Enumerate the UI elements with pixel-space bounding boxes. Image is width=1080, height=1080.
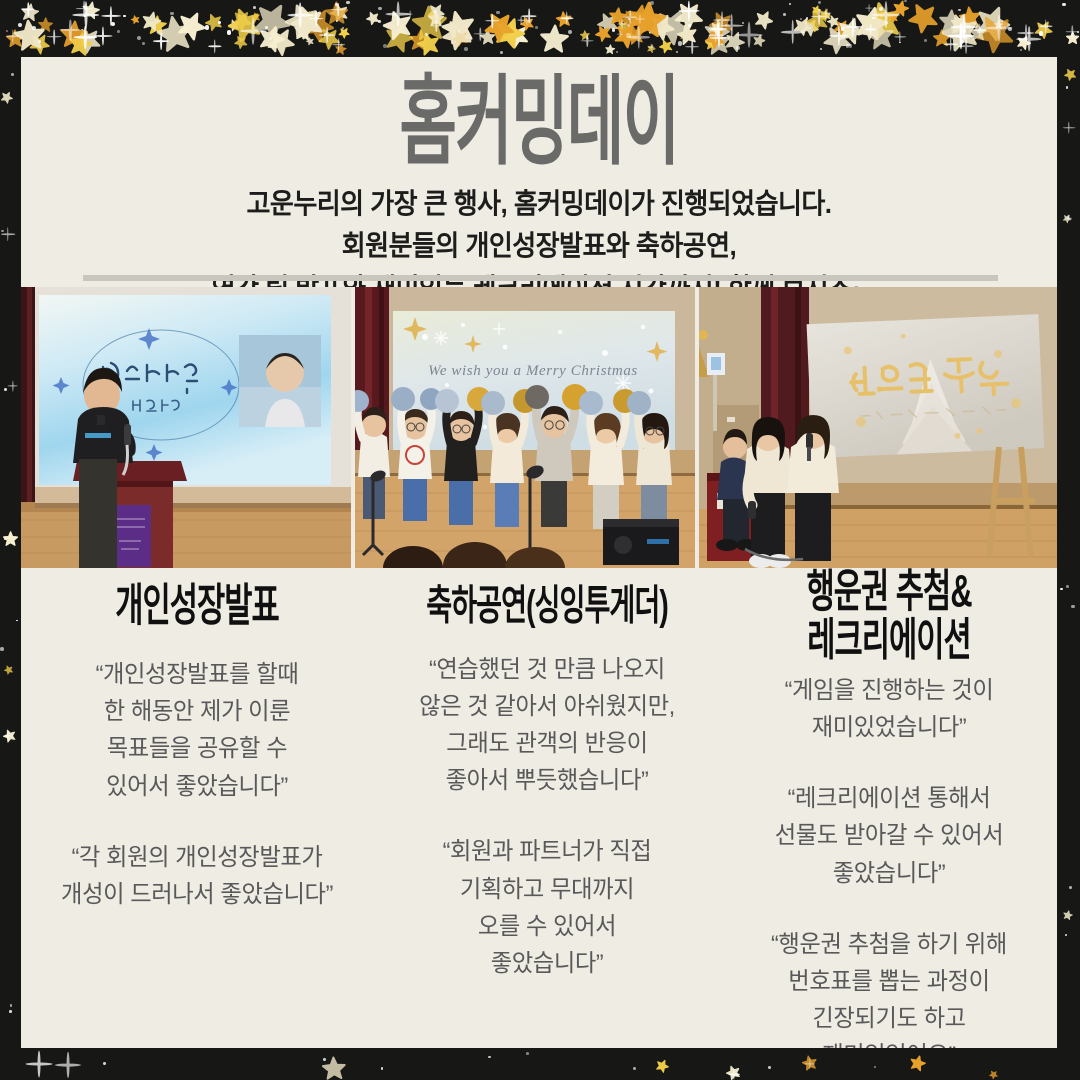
sparkle-dot-icon (458, 30, 460, 32)
star-icon (334, 42, 347, 55)
sparkle-dot-icon (1066, 86, 1068, 88)
star-icon (668, 0, 707, 34)
star-icon (3, 663, 15, 675)
sparkle-icon (618, 20, 627, 29)
sparkle-dot-icon (874, 1066, 876, 1068)
star-icon (415, 30, 443, 58)
sparkle-icon (55, 1052, 81, 1078)
star-icon (325, 1, 349, 25)
sparkle-icon (947, 22, 974, 49)
sparkle-icon (581, 34, 594, 47)
sparkle-dot-icon (1069, 886, 1072, 889)
star-icon (382, 20, 417, 55)
sparkle-dot-icon (378, 7, 381, 10)
star-icon (816, 6, 834, 24)
sparkle-dot-icon (612, 28, 616, 32)
sparkle-dot-icon (820, 48, 822, 50)
star-icon (5, 29, 24, 48)
sparkle-icon (522, 9, 537, 24)
sparkle-dot-icon (568, 30, 572, 34)
star-icon (256, 22, 289, 55)
star-icon (1066, 31, 1079, 44)
sparkle-icon (1063, 121, 1076, 134)
sparkle-dot-icon (800, 18, 802, 20)
sparkle-icon (7, 380, 18, 391)
star-icon (908, 1053, 927, 1072)
star-icon (825, 13, 840, 28)
sparkle-icon (1065, 215, 1071, 221)
sparkle-dot-icon (789, 3, 791, 5)
star-icon (891, 0, 910, 18)
quote-line: 그래도 관객의 반응이 (378, 725, 716, 762)
sparkle-dot-icon (323, 1058, 326, 1061)
sparkle-icon (522, 16, 532, 26)
star-icon (867, 6, 889, 28)
quote-line: “레크리에이션 통해서 (726, 780, 1052, 817)
sparkle-icon (93, 27, 112, 46)
star-icon (649, 2, 697, 50)
sparkle-dot-icon (742, 22, 744, 24)
homecoming-day-poster: 홈커밍데이 고운누리의 가장 큰 행사, 홈커밍데이가 진행되었습니다. 회원분… (0, 0, 1080, 1080)
star-icon (580, 29, 591, 40)
sparkle-dot-icon (4, 388, 7, 391)
star-icon (1066, 31, 1079, 44)
star-icon (425, 0, 448, 23)
star-icon (953, 17, 966, 30)
sparkle-dot-icon (545, 37, 547, 39)
sparkle-dot-icon (381, 1067, 383, 1069)
star-icon (971, 0, 1016, 44)
quote-line: 좋아서 뿌듯했습니다” (378, 762, 716, 799)
sparkle-dot-icon (818, 1, 822, 5)
star-icon (994, 20, 1003, 29)
star-icon (314, 23, 344, 53)
star-icon (439, 7, 479, 47)
star-icon (379, 6, 415, 42)
star-icon (608, 7, 627, 26)
star-icon (174, 6, 211, 43)
column-heading-3-line-1: 행운권 추첨& (750, 567, 1029, 616)
quote-line: “행운권 추첨을 하기 위해 (726, 926, 1052, 963)
star-icon (2, 727, 19, 744)
quotes-1: “개인성장발표를 할때 한 해동안 제가 이룬 목표들을 공유할 수 있어서 좋… (21, 656, 373, 913)
sparkle-icon (821, 8, 831, 18)
sparkle-icon (26, 1050, 53, 1077)
sparkle-icon (805, 1058, 816, 1069)
column-lucky-draw-recreation: 행운권 추첨& 레크리에이션 “게임을 진행하는 것이 재미있었습니다” “레크… (721, 576, 1057, 1048)
star-icon (611, 19, 643, 51)
sparkle-dot-icon (123, 15, 126, 18)
sparkle-dot-icon (962, 29, 966, 33)
quote-line: 개성이 드러나서 좋았습니다” (26, 876, 367, 913)
sparkle-dot-icon (111, 22, 115, 26)
star-icon (0, 88, 15, 104)
quote-line: 긴장되기도 하고 (726, 1000, 1052, 1037)
star-icon (625, 2, 656, 33)
sparkle-dot-icon (1066, 585, 1069, 588)
sparkle-dot-icon (1020, 49, 1022, 51)
quote-line: 선물도 받아갈 수 있어서 (726, 817, 1052, 854)
star-icon (67, 30, 94, 57)
sparkle-dot-icon (346, 1, 350, 5)
sparkle-icon (1, 227, 15, 241)
star-icon (791, 14, 815, 38)
star-icon (645, 42, 656, 53)
sparkle-icon (985, 15, 1012, 42)
star-icon (707, 18, 726, 37)
sparkle-dot-icon (904, 0, 906, 2)
star-icon (751, 33, 766, 48)
column-heading-3-line-2: 레크리에이션 (750, 616, 1029, 665)
star-icon (625, 2, 656, 33)
star-icon (556, 10, 573, 27)
star-icon (703, 27, 731, 55)
star-icon (702, 24, 729, 51)
star-icon (705, 37, 718, 50)
content-panel: 홈커밍데이 고운누리의 가장 큰 행사, 홈커밍데이가 진행되었습니다. 회원분… (21, 57, 1057, 1048)
star-icon (303, 11, 316, 24)
star-icon (938, 8, 964, 34)
sparkle-icon (22, 3, 35, 16)
quote-3-2: “레크리에이션 통해서 선물도 받아갈 수 있어서 좋았습니다” (726, 780, 1052, 892)
sparkle-icon (74, 26, 96, 48)
sparkle-dot-icon (10, 1004, 13, 1007)
sparkle-icon (332, 38, 346, 52)
star-icon (500, 19, 532, 51)
star-icon (706, 8, 737, 39)
sparkle-icon (951, 13, 978, 40)
sparkle-dot-icon (1060, 588, 1063, 591)
photo-strip: 또 하나의 빛 (21, 287, 1057, 568)
star-icon (228, 6, 256, 34)
quote-line: 좋았습니다” (378, 945, 716, 982)
sparkle-dot-icon (872, 17, 875, 20)
sparkle-dot-icon (688, 24, 691, 27)
star-icon (155, 12, 197, 54)
star-icon (539, 24, 569, 54)
star-icon (657, 37, 675, 55)
star-icon (227, 17, 242, 32)
star-icon (80, 0, 101, 20)
sparkle-dot-icon (324, 33, 327, 36)
star-icon (592, 22, 613, 43)
sparkle-dot-icon (628, 18, 630, 20)
quote-line: “각 회원의 개인성장발표가 (26, 839, 367, 876)
star-icon (865, 20, 895, 50)
sparkle-icon (153, 33, 169, 49)
sparkle-dot-icon (849, 44, 852, 47)
star-icon (479, 5, 520, 46)
star-icon (675, 22, 699, 46)
star-icon (223, 2, 266, 45)
sparkle-icon (829, 25, 849, 45)
star-icon (411, 4, 448, 41)
sparkle-dot-icon (1039, 31, 1043, 35)
star-icon (908, 1053, 927, 1072)
quote-line: 좋았습니다” (726, 855, 1052, 892)
star-icon (724, 1063, 743, 1080)
column-celebration-performance: 축하공연(싱잉투게더) “연습했던 것 만큼 나오지 않은 것 같아서 아쉬웠지… (373, 576, 721, 1016)
sparkle-icon (385, 2, 410, 27)
sparkle-icon (865, 24, 876, 35)
sparkle-dot-icon (899, 42, 901, 44)
star-icon (249, 0, 298, 44)
sparkle-dot-icon (378, 20, 381, 23)
sparkle-dot-icon (1065, 934, 1067, 936)
quote-line: “회원과 파트너가 직접 (378, 833, 716, 870)
sparkle-icon (1017, 24, 1035, 42)
star-icon (800, 1053, 818, 1071)
sparkle-icon (60, 20, 81, 41)
star-icon (803, 5, 831, 33)
sparkle-icon (47, 29, 62, 44)
star-icon (408, 28, 432, 52)
svg-text:We wish you a Merry Christmas: We wish you a Merry Christmas (428, 363, 638, 379)
star-icon (988, 1069, 1000, 1080)
photo-personal-growth-presentation: 또 하나의 빛 (21, 287, 351, 568)
star-icon (286, 0, 328, 42)
quote-line: 오를 수 있어서 (378, 908, 716, 945)
star-icon (679, 30, 689, 40)
sparkle-dot-icon (253, 6, 256, 9)
subtitle-line-2: 회원분들의 개인성장발표와 축하공연, (57, 225, 1020, 268)
star-icon (887, 10, 899, 22)
sparkle-icon (714, 12, 732, 30)
sparkle-icon (72, 2, 100, 30)
sparkle-icon (101, 6, 121, 26)
sparkle-dot-icon (32, 26, 36, 30)
sparkle-dot-icon (227, 30, 231, 34)
photo-lucky-draw (699, 287, 1057, 568)
star-icon (644, 9, 679, 44)
star-icon (811, 4, 823, 16)
star-icon (3, 531, 18, 546)
sparkle-dot-icon (0, 647, 4, 651)
star-icon (1062, 909, 1074, 921)
sparkle-dot-icon (626, 33, 630, 37)
sparkle-dot-icon (961, 40, 964, 43)
subtitle-line-1: 고운누리의 가장 큰 행사, 홈커밍데이가 진행되었습니다. (57, 183, 1020, 226)
quote-1-1: “개인성장발표를 할때 한 해동안 제가 이룬 목표들을 공유할 수 있어서 좋… (26, 656, 367, 805)
sparkle-icon (308, 11, 323, 26)
star-icon (450, 28, 471, 49)
sparkle-dot-icon (16, 620, 18, 622)
star-icon (305, 36, 315, 46)
sparkle-icon (3, 732, 13, 742)
star-icon (592, 22, 613, 43)
star-icon (297, 3, 340, 46)
testimonial-columns: 개인성장발표 “개인성장발표를 할때 한 해동안 제가 이룬 목표들을 공유할 … (21, 576, 1057, 1048)
sparkle-icon (648, 44, 655, 51)
quote-line: “개인성장발표를 할때 (26, 656, 367, 693)
sparkle-dot-icon (142, 42, 145, 45)
star-icon (479, 28, 495, 44)
star-icon (428, 10, 444, 26)
star-icon (752, 7, 777, 32)
sparkle-dot-icon (768, 1066, 772, 1070)
sparkle-dot-icon (958, 9, 961, 12)
quote-line: 기획하고 무대까지 (378, 871, 716, 908)
quotes-2: “연습했던 것 만큼 나오지 않은 것 같아서 아쉬웠지만, 그래도 관객의 반… (373, 651, 721, 983)
sparkle-icon (708, 19, 727, 38)
sparkle-icon (678, 1, 699, 22)
sparkle-icon (485, 14, 499, 28)
star-icon (958, 5, 982, 29)
sparkle-icon (844, 18, 863, 37)
sparkle-dot-icon (434, 10, 436, 12)
quote-line: 한 해동안 제가 이룬 (26, 693, 367, 730)
star-icon (450, 28, 471, 49)
sparkle-dot-icon (1001, 21, 1003, 23)
page-title: 홈커밍데이 (125, 73, 954, 172)
star-icon (629, 0, 667, 38)
star-icon (1061, 212, 1073, 224)
star-icon (722, 28, 748, 54)
sparkle-dot-icon (725, 24, 727, 26)
sparkle-icon (781, 20, 805, 44)
sparkle-dot-icon (464, 47, 468, 51)
star-icon (932, 29, 950, 47)
star-icon (539, 24, 569, 54)
star-icon (799, 15, 823, 39)
sparkle-icon (719, 14, 743, 38)
quote-line: “연습했던 것 만큼 나오지 (378, 651, 716, 688)
star-icon (970, 8, 1020, 58)
sparkle-icon (628, 26, 650, 48)
star-icon (491, 13, 529, 51)
star-icon (625, 24, 647, 46)
sparkle-dot-icon (11, 73, 14, 76)
sparkle-dot-icon (616, 51, 618, 53)
sparkle-dot-icon (879, 7, 883, 11)
sparkle-dot-icon (1077, 31, 1079, 33)
star-icon (437, 14, 477, 54)
sparkle-icon (957, 37, 974, 54)
star-icon (337, 25, 352, 40)
star-icon (59, 19, 89, 49)
star-icon (479, 5, 520, 46)
sparkle-icon (430, 20, 442, 32)
star-icon (852, 3, 892, 43)
star-icon (232, 33, 250, 51)
sparkle-icon (709, 28, 724, 43)
star-icon (437, 14, 477, 54)
star-icon (415, 30, 443, 58)
sparkle-icon (6, 30, 20, 44)
sparkle-dot-icon (4, 538, 6, 540)
star-icon (3, 531, 18, 546)
star-icon (130, 14, 141, 25)
sparkle-icon (944, 37, 958, 51)
sparkle-dot-icon (218, 21, 221, 24)
sparkle-dot-icon (500, 51, 503, 54)
sparkle-icon (963, 35, 970, 42)
sparkle-dot-icon (783, 13, 786, 16)
sparkle-dot-icon (526, 1052, 529, 1055)
sparkle-dot-icon (170, 12, 173, 15)
star-icon (644, 9, 679, 44)
column-heading-3: 행운권 추첨& 레크리에이션 (750, 567, 1029, 664)
star-icon (675, 22, 699, 46)
sparkle-dot-icon (488, 1056, 491, 1059)
sparkle-dot-icon (335, 3, 338, 6)
photo-celebration-performance: We wish you a Merry Christmas (355, 287, 695, 568)
sparkle-icon (240, 18, 266, 44)
quotes-3: “게임을 진행하는 것이 재미있었습니다” “레크리에이션 통해서 선물도 받아… (721, 672, 1057, 1048)
quote-3-1: “게임을 진행하는 것이 재미있었습니다” (726, 672, 1052, 746)
sparkle-dot-icon (103, 1062, 106, 1065)
star-icon (337, 25, 352, 40)
star-icon (938, 8, 984, 54)
star-icon (631, 12, 649, 30)
star-icon (903, 0, 943, 37)
sparkle-dot-icon (425, 33, 428, 36)
star-icon (12, 17, 47, 52)
star-icon (994, 20, 1003, 29)
sparkle-dot-icon (205, 25, 209, 29)
star-icon (328, 1, 351, 24)
star-icon (613, 17, 630, 34)
quote-line: 않은 것 같아서 아쉬웠지만, (378, 688, 716, 725)
sparkle-dot-icon (806, 17, 808, 19)
sparkle-icon (560, 11, 573, 24)
sparkle-dot-icon (924, 39, 927, 42)
sparkle-icon (811, 9, 827, 25)
quote-3-3: “행운권 추첨을 하기 위해 번호표를 뽑는 과정이 긴장되기도 하고 재미있었… (726, 926, 1052, 1048)
sparkle-icon (872, 1, 900, 29)
sparkle-icon (1066, 25, 1079, 38)
sparkle-dot-icon (137, 36, 141, 40)
quote-2-2: “회원과 파트너가 직접 기획하고 무대까지 오를 수 있어서 좋았습니다” (378, 833, 716, 982)
star-icon (887, 10, 899, 22)
star-icon (1015, 33, 1034, 52)
sparkle-dot-icon (678, 41, 682, 45)
quote-2-1: “연습했던 것 만큼 나오지 않은 것 같아서 아쉬웠지만, 그래도 관객의 반… (378, 651, 716, 800)
star-icon (969, 23, 987, 41)
sparkle-dot-icon (633, 1067, 636, 1070)
sparkle-dot-icon (18, 23, 22, 27)
star-icon (891, 0, 910, 18)
star-icon (364, 9, 382, 27)
sparkle-dot-icon (1071, 605, 1074, 608)
star-icon (293, 20, 314, 41)
star-icon (707, 18, 726, 37)
star-icon (439, 7, 479, 47)
sparkle-dot-icon (736, 46, 740, 50)
sparkle-dot-icon (676, 51, 678, 53)
column-heading-2: 축하공연(싱잉투게더) (403, 584, 692, 629)
star-icon (618, 8, 642, 32)
quote-line: 재미있었어요” (726, 1037, 1052, 1048)
sparkle-dot-icon (342, 27, 344, 29)
sparkle-dot-icon (1, 230, 4, 233)
sparkle-icon (76, 0, 93, 17)
header-block: 홈커밍데이 고운누리의 가장 큰 행사, 홈커밍데이가 진행되었습니다. 회원분… (21, 57, 1057, 310)
sparkle-icon (729, 1069, 740, 1080)
star-icon (1062, 66, 1078, 82)
star-icon (841, 23, 857, 39)
star-icon (821, 10, 832, 21)
star-icon (1015, 33, 1034, 52)
sparkle-icon (636, 14, 646, 24)
sparkle-dot-icon (38, 40, 41, 43)
star-icon (256, 22, 289, 55)
star-icon (605, 44, 616, 55)
star-icon (831, 16, 853, 38)
column-heading-1: 개인성장발표 (51, 582, 343, 631)
star-icon (322, 1055, 347, 1080)
star-icon (20, 2, 40, 22)
